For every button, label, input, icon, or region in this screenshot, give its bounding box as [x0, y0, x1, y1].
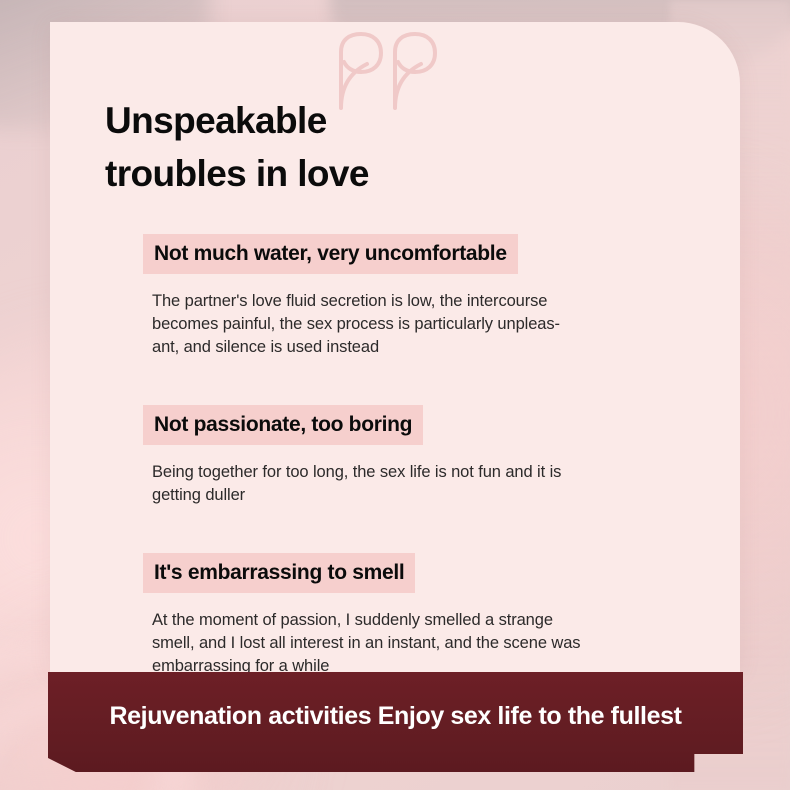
section-body: At the moment of passion, I suddenly sme… — [152, 609, 652, 678]
section-title: Not passionate, too boring — [143, 405, 423, 445]
section-item: Not passionate, too boring Being togethe… — [50, 405, 740, 507]
content-card: Unspeakable troubles in love Not much wa… — [50, 22, 740, 672]
poster-root: Unspeakable troubles in love Not much wa… — [0, 0, 790, 790]
sections-list: Not much water, very uncomfortable The p… — [50, 234, 740, 684]
section-body: The partner's love fluid secretion is lo… — [152, 290, 652, 359]
section-item: It's embarrassing to smell At the moment… — [50, 553, 740, 678]
section-item: Not much water, very uncomfortable The p… — [50, 234, 740, 359]
bottom-banner-text: Rejuvenation activities Enjoy sex life t… — [48, 702, 743, 731]
section-title-wrap: Not passionate, too boring — [143, 405, 423, 445]
page-title: Unspeakable troubles in love — [105, 94, 665, 200]
section-title: Not much water, very uncomfortable — [143, 234, 518, 274]
section-title-wrap: It's embarrassing to smell — [143, 553, 415, 593]
section-spacer — [50, 513, 740, 553]
section-body: Being together for too long, the sex lif… — [152, 461, 652, 507]
section-spacer — [50, 365, 740, 405]
section-title: It's embarrassing to smell — [143, 553, 415, 593]
section-title-wrap: Not much water, very uncomfortable — [143, 234, 518, 274]
bottom-banner: Rejuvenation activities Enjoy sex life t… — [48, 672, 743, 772]
